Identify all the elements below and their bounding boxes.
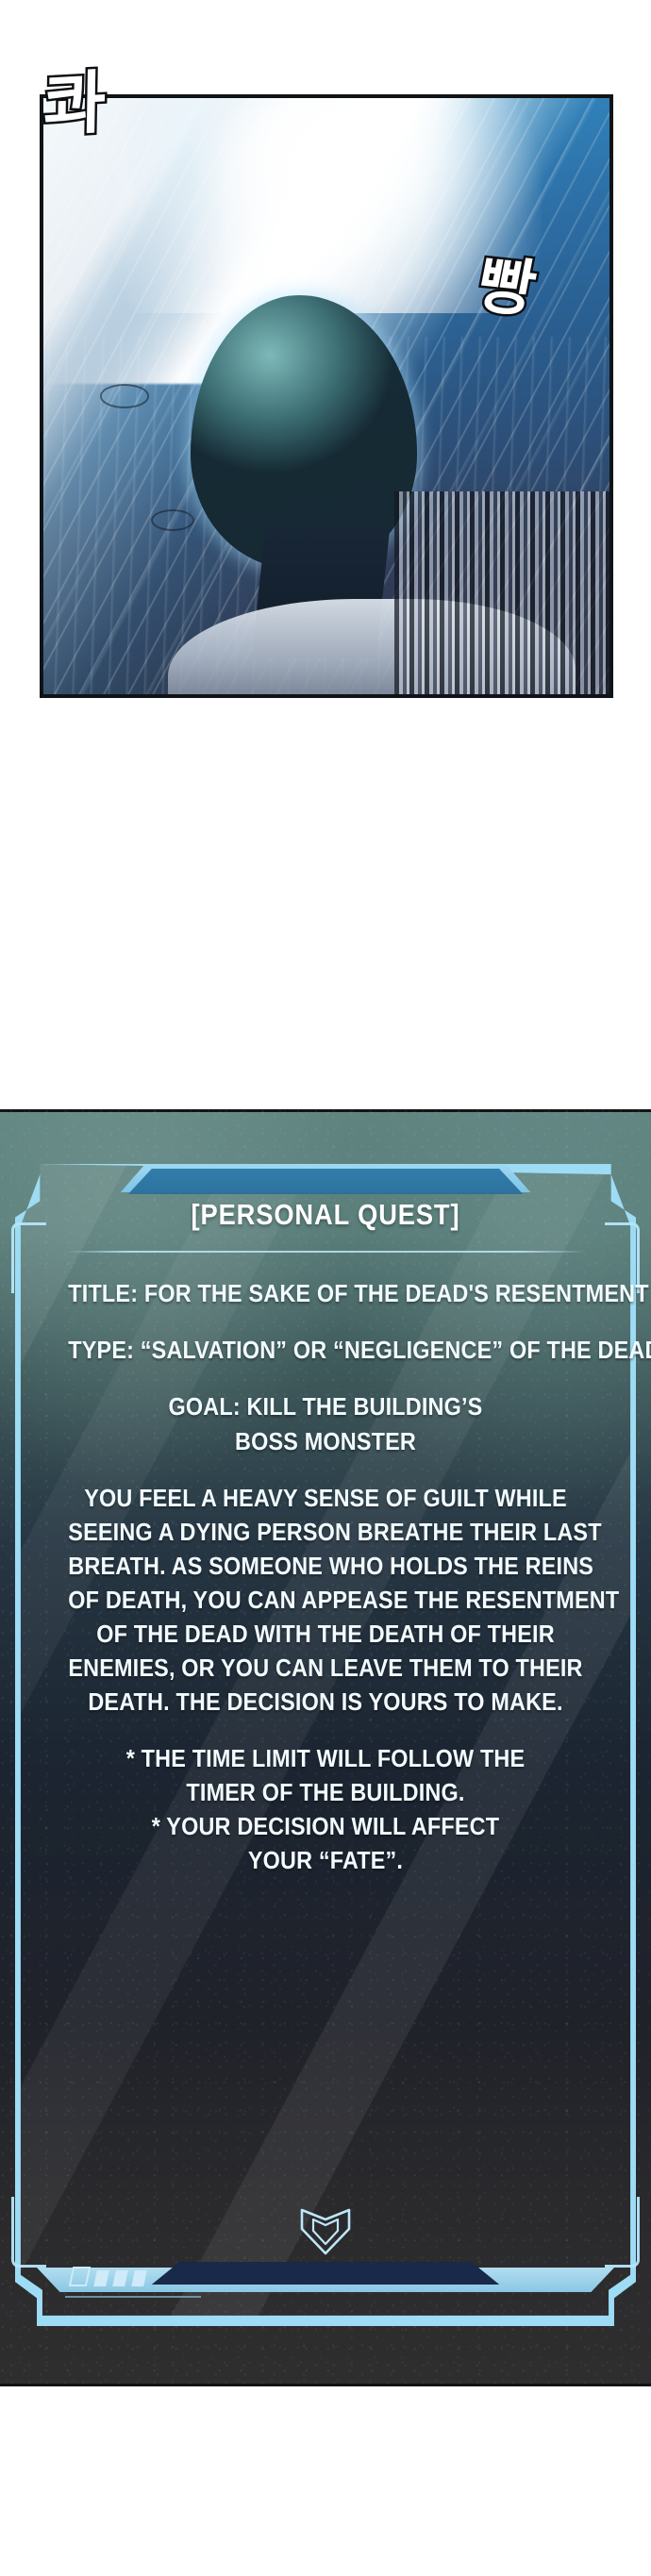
quest-line: SEEING A DYING PERSON BREATHE THEIR LAST [68,1520,582,1544]
quest-line: YOU FEEL A HEAVY SENSE OF GUILT WHILE [68,1486,582,1510]
quest-window-frame: [PERSONAL QUEST] TITLE: FOR THE SAKE OF … [15,1164,636,2326]
quest-line: YOUR “FATE”. [68,1848,582,1872]
footer-segments [71,2267,145,2286]
footer-segment [93,2270,109,2286]
footer-underline [65,2296,202,2298]
quest-line: TIMER OF THE BUILDING. [68,1780,582,1804]
quest-description-block: YOU FEEL A HEAVY SENSE OF GUILT WHILE SE… [40,1486,611,1714]
quest-line: BOSS MONSTER [68,1429,582,1454]
quest-line: TITLE: FOR THE SAKE OF THE DEAD'S RESENT… [68,1281,582,1305]
chevron-emblem-icon [294,2204,357,2271]
quest-line: OF DEATH, YOU CAN APPEASE THE RESENTMENT [68,1587,582,1612]
quest-line: OF THE DEAD WITH THE DEATH OF THEIR [68,1621,582,1646]
quest-goal-block: GOAL: KILL THE BUILDING’S BOSS MONSTER [40,1394,611,1454]
ring-detail [151,509,194,531]
ring-detail [100,384,149,407]
quest-line: * YOUR DECISION WILL AFFECT [68,1814,582,1838]
quest-line: DEATH. THE DECISION IS YOURS TO MAKE. [68,1689,582,1714]
panel-bottom-border [0,2384,651,2386]
background-stripes [394,491,609,694]
sound-effect-right: 빵 [472,254,541,321]
footer-bar-inner [152,2262,500,2285]
quest-notes-block: * THE TIME LIMIT WILL FOLLOW THE TIMER O… [40,1746,611,1872]
quest-body: TITLE: FOR THE SAKE OF THE DEAD'S RESENT… [40,1281,611,1872]
sound-effect-left: 콰 [42,68,106,140]
quest-type-block: TYPE: “SALVATION” OR “NEGLIGENCE” OF THE… [40,1338,611,1362]
quest-line: TYPE: “SALVATION” OR “NEGLIGENCE” OF THE… [68,1338,582,1362]
footer-segment [69,2267,91,2286]
comic-panel-artwork [40,94,613,698]
quest-header-divider [65,1251,587,1253]
footer-segment [112,2270,128,2286]
footer-segment [131,2270,147,2286]
quest-line: * THE TIME LIMIT WILL FOLLOW THE [68,1746,582,1770]
quest-line: ENEMIES, OR YOU CAN LEAVE THEM TO THEIR [68,1655,582,1680]
quest-line: GOAL: KILL THE BUILDING’S [68,1394,582,1419]
comic-panel-quest: [PERSONAL QUEST] TITLE: FOR THE SAKE OF … [0,1109,651,2386]
quest-title-block: TITLE: FOR THE SAKE OF THE DEAD'S RESENT… [40,1281,611,1305]
quest-footer [15,2213,636,2326]
quest-title: [PERSONAL QUEST] [52,1198,598,1232]
quest-line: BREATH. AS SOMEONE WHO HOLDS THE REINS [68,1554,582,1578]
header-notch-inner [128,1169,524,1194]
